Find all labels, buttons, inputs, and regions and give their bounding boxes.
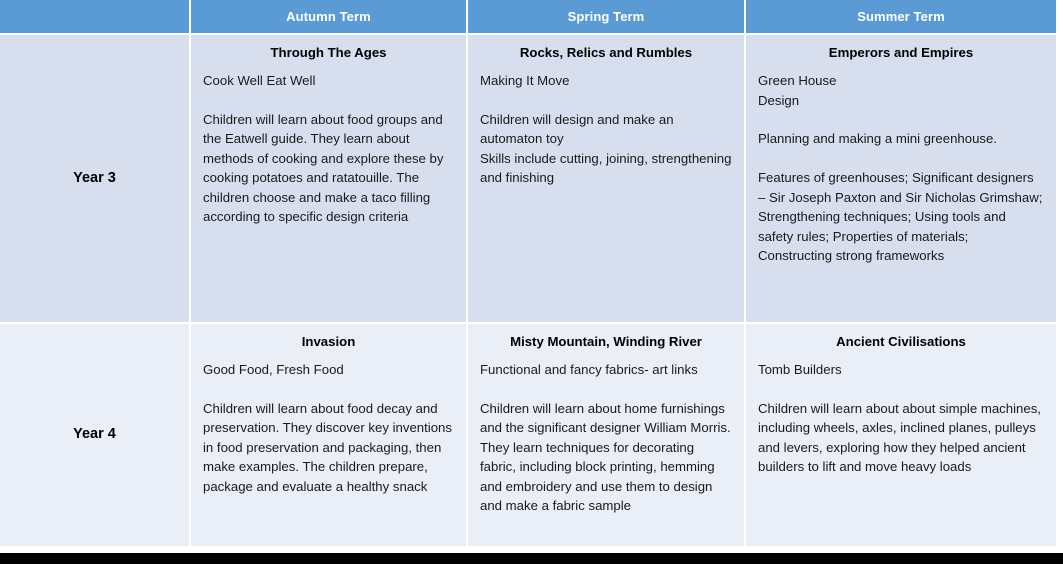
paragraph-spacer xyxy=(480,380,732,399)
topic-subtitle: Functional and fancy fabrics- art links xyxy=(480,360,732,380)
topic-subtitle: Green House Design xyxy=(758,71,1044,110)
topic-description: Planning and making a mini greenhouse. F… xyxy=(758,129,1044,266)
paragraph-spacer xyxy=(758,380,1044,399)
topic-description: Children will learn about home furnishin… xyxy=(480,399,732,516)
cell-year3-spring: Rocks, Relics and Rumbles Making It Move… xyxy=(467,34,745,323)
table-row: Year 3 Through The Ages Cook Well Eat We… xyxy=(0,34,1056,323)
header-corner-cell xyxy=(0,0,190,34)
cell-year4-summer: Ancient Civilisations Tomb Builders Chil… xyxy=(745,323,1056,547)
year-label-cell-year4: Year 4 xyxy=(0,323,190,547)
cell-year4-autumn: Invasion Good Food, Fresh Food Children … xyxy=(190,323,467,547)
topic-title: Invasion xyxy=(203,333,454,351)
paragraph-spacer xyxy=(480,91,732,110)
topic-title: Ancient Civilisations xyxy=(758,333,1044,351)
paragraph-spacer xyxy=(203,380,454,399)
header-spring-term: Spring Term xyxy=(467,0,745,34)
table-row: Year 4 Invasion Good Food, Fresh Food Ch… xyxy=(0,323,1056,547)
bottom-black-bar xyxy=(0,553,1063,564)
cell-year3-summer: Emperors and Empires Green House Design … xyxy=(745,34,1056,323)
header-autumn-term: Autumn Term xyxy=(190,0,467,34)
year-label-cell-year3: Year 3 xyxy=(0,34,190,323)
topic-description: Children will learn about food groups an… xyxy=(203,110,454,227)
topic-description: Children will learn about food decay and… xyxy=(203,399,454,497)
paragraph-spacer xyxy=(203,91,454,110)
topic-description: Children will design and make an automat… xyxy=(480,110,732,188)
cell-year4-spring: Misty Mountain, Winding River Functional… xyxy=(467,323,745,547)
topic-title: Through The Ages xyxy=(203,44,454,62)
header-summer-term: Summer Term xyxy=(745,0,1056,34)
topic-subtitle: Making It Move xyxy=(480,71,732,91)
cell-year3-autumn: Through The Ages Cook Well Eat Well Chil… xyxy=(190,34,467,323)
header-row: Autumn Term Spring Term Summer Term xyxy=(0,0,1056,34)
topic-title: Emperors and Empires xyxy=(758,44,1044,62)
topic-subtitle: Cook Well Eat Well xyxy=(203,71,454,91)
curriculum-overview-table: Autumn Term Spring Term Summer Term Year… xyxy=(0,0,1056,548)
table-header: Autumn Term Spring Term Summer Term xyxy=(0,0,1056,34)
topic-title: Misty Mountain, Winding River xyxy=(480,333,732,351)
topic-description: Children will learn about about simple m… xyxy=(758,399,1044,477)
topic-subtitle: Tomb Builders xyxy=(758,360,1044,380)
topic-title: Rocks, Relics and Rumbles xyxy=(480,44,732,62)
table-body: Year 3 Through The Ages Cook Well Eat We… xyxy=(0,34,1056,547)
topic-subtitle: Good Food, Fresh Food xyxy=(203,360,454,380)
paragraph-spacer xyxy=(758,110,1044,129)
